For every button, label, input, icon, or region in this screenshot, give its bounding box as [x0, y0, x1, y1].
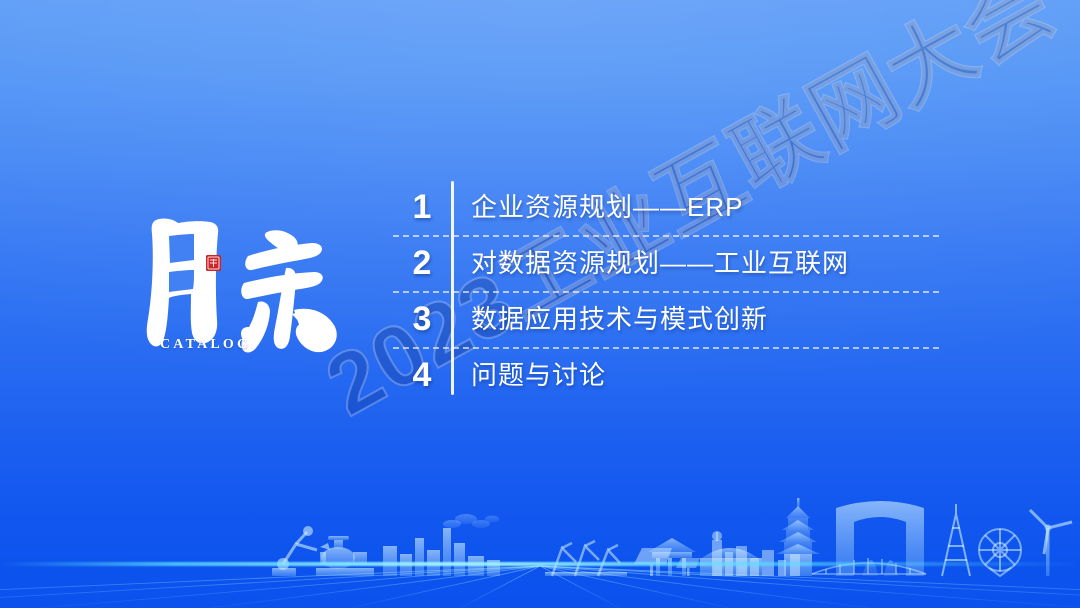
temple-icon	[648, 538, 696, 576]
toc-item-2[interactable]: 2 对数据资源规划——工业互联网	[393, 235, 931, 291]
toc-vertical-rule	[451, 181, 454, 395]
toc-item-label: 对数据资源规划——工业互联网	[451, 249, 849, 278]
skyline-svg	[0, 488, 1080, 608]
wind-turbine-icon	[1030, 510, 1072, 576]
toc-item-1[interactable]: 1 企业资源规划——ERP	[393, 179, 931, 235]
toc-divider	[393, 347, 939, 349]
toc-divider	[393, 235, 939, 237]
toc-item-label: 问题与讨论	[451, 361, 606, 390]
robotic-arm-icon	[277, 526, 330, 570]
toc-item-label: 数据应用技术与模式创新	[451, 305, 768, 334]
pipe-valve-icon	[316, 536, 374, 576]
solar-panel-icon	[648, 552, 682, 566]
pagoda-icon	[776, 498, 820, 576]
office-tower-icon	[712, 531, 800, 576]
factory-icon	[383, 514, 500, 576]
horizon-glow	[0, 562, 1080, 566]
eiffel-tower-icon	[942, 504, 970, 576]
city-skyline-scene	[0, 488, 1080, 608]
perspective-grid	[0, 566, 1080, 608]
ferris-wheel-icon	[979, 529, 1021, 576]
catalog-heading: CATALOG	[140, 210, 350, 375]
catalog-english-label: CATALOG	[160, 337, 251, 353]
bridge-icon	[812, 558, 926, 574]
slide-canvas: 2023工业互联网大会	[0, 0, 1080, 608]
toc-item-number: 3	[393, 302, 451, 336]
toc-item-number: 1	[393, 190, 451, 224]
toc-divider	[393, 291, 939, 293]
skyline-shapes	[272, 498, 1072, 576]
toc-list: 1 企业资源规划——ERP 2 对数据资源规划——工业互联网 3 数据应用技术与…	[393, 179, 931, 403]
toc-item-number: 4	[393, 358, 451, 392]
toc-item-3[interactable]: 3 数据应用技术与模式创新	[393, 291, 931, 347]
toc-item-label: 企业资源规划——ERP	[451, 193, 743, 222]
skyline-right-section	[0, 488, 1080, 608]
toc-item-4[interactable]: 4 问题与讨论	[393, 347, 931, 403]
oil-pumpjack-icon	[552, 541, 620, 576]
hall-icon	[700, 548, 762, 576]
seal-stamp-icon	[206, 255, 221, 271]
gate-of-the-orient-icon	[836, 501, 924, 576]
toc-item-number: 2	[393, 246, 451, 280]
solar-panel-icon	[634, 548, 700, 576]
